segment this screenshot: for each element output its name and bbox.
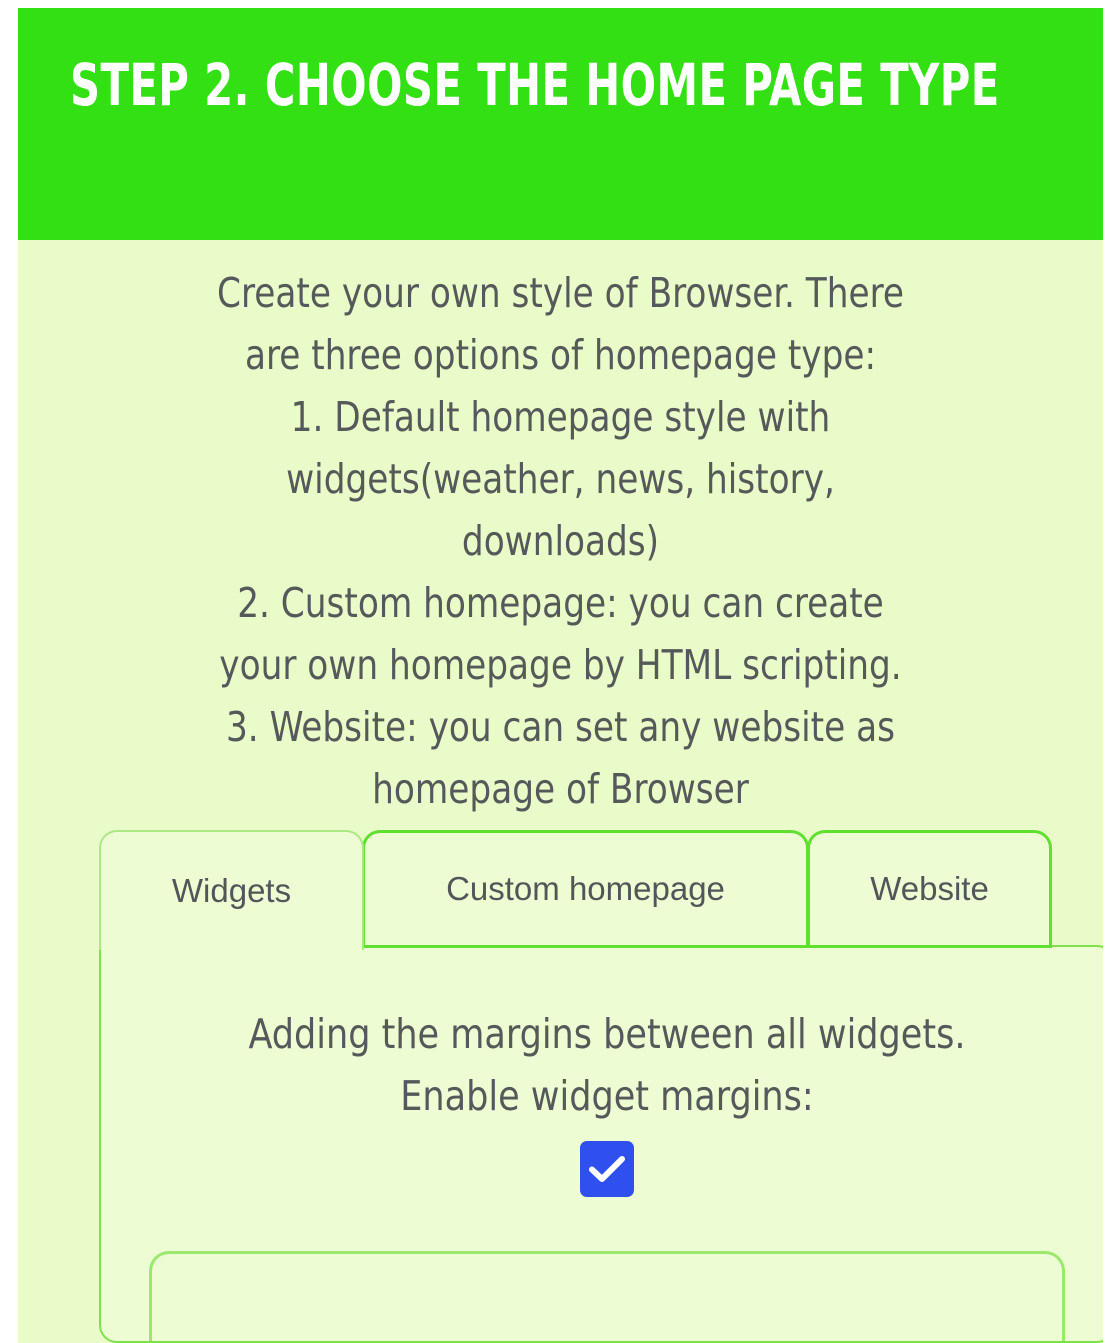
- tab-custom-homepage[interactable]: Custom homepage: [362, 830, 809, 948]
- intro-line: homepage of Browser: [101, 758, 1021, 820]
- page-title: Step 2. Choose the home page type: [70, 26, 1051, 144]
- checkbox-row: [131, 1141, 1083, 1197]
- card-body: Create your own style of Browser. There …: [18, 240, 1103, 1343]
- next-section-box: [149, 1251, 1065, 1341]
- panel-line: Enable widget margins:: [155, 1065, 1059, 1127]
- step-header: Step 2. Choose the home page type: [18, 8, 1103, 240]
- tab-panel-widgets: Adding the margins between all widgets. …: [99, 945, 1103, 1343]
- intro-line: 3. Website: you can set any website as: [101, 696, 1021, 758]
- tab-label: Custom homepage: [446, 870, 725, 908]
- tab-list: Widgets Custom homepage Website: [99, 830, 1103, 948]
- panel-line: Adding the margins between all widgets.: [155, 1003, 1059, 1065]
- panel-description: Adding the margins between all widgets. …: [155, 1003, 1059, 1127]
- tab-widgets[interactable]: Widgets: [99, 830, 364, 950]
- intro-line: your own homepage by HTML scripting.: [101, 634, 1021, 696]
- tab-label: Widgets: [172, 872, 291, 910]
- intro-line: 1. Default homepage style with: [101, 386, 1021, 448]
- intro-line: downloads): [101, 510, 1021, 572]
- intro-line: widgets(weather, news, history,: [101, 448, 1021, 510]
- tab-label: Website: [870, 870, 989, 908]
- tab-website[interactable]: Website: [807, 830, 1052, 948]
- intro-line: are three options of homepage type:: [101, 324, 1021, 386]
- intro-line: Create your own style of Browser. There: [101, 262, 1021, 324]
- intro-text: Create your own style of Browser. There …: [101, 262, 1021, 820]
- intro-line: 2. Custom homepage: you can create: [101, 572, 1021, 634]
- check-icon: [589, 1155, 625, 1183]
- enable-widget-margins-checkbox[interactable]: [580, 1141, 634, 1197]
- step-card: Step 2. Choose the home page type Create…: [18, 8, 1103, 1343]
